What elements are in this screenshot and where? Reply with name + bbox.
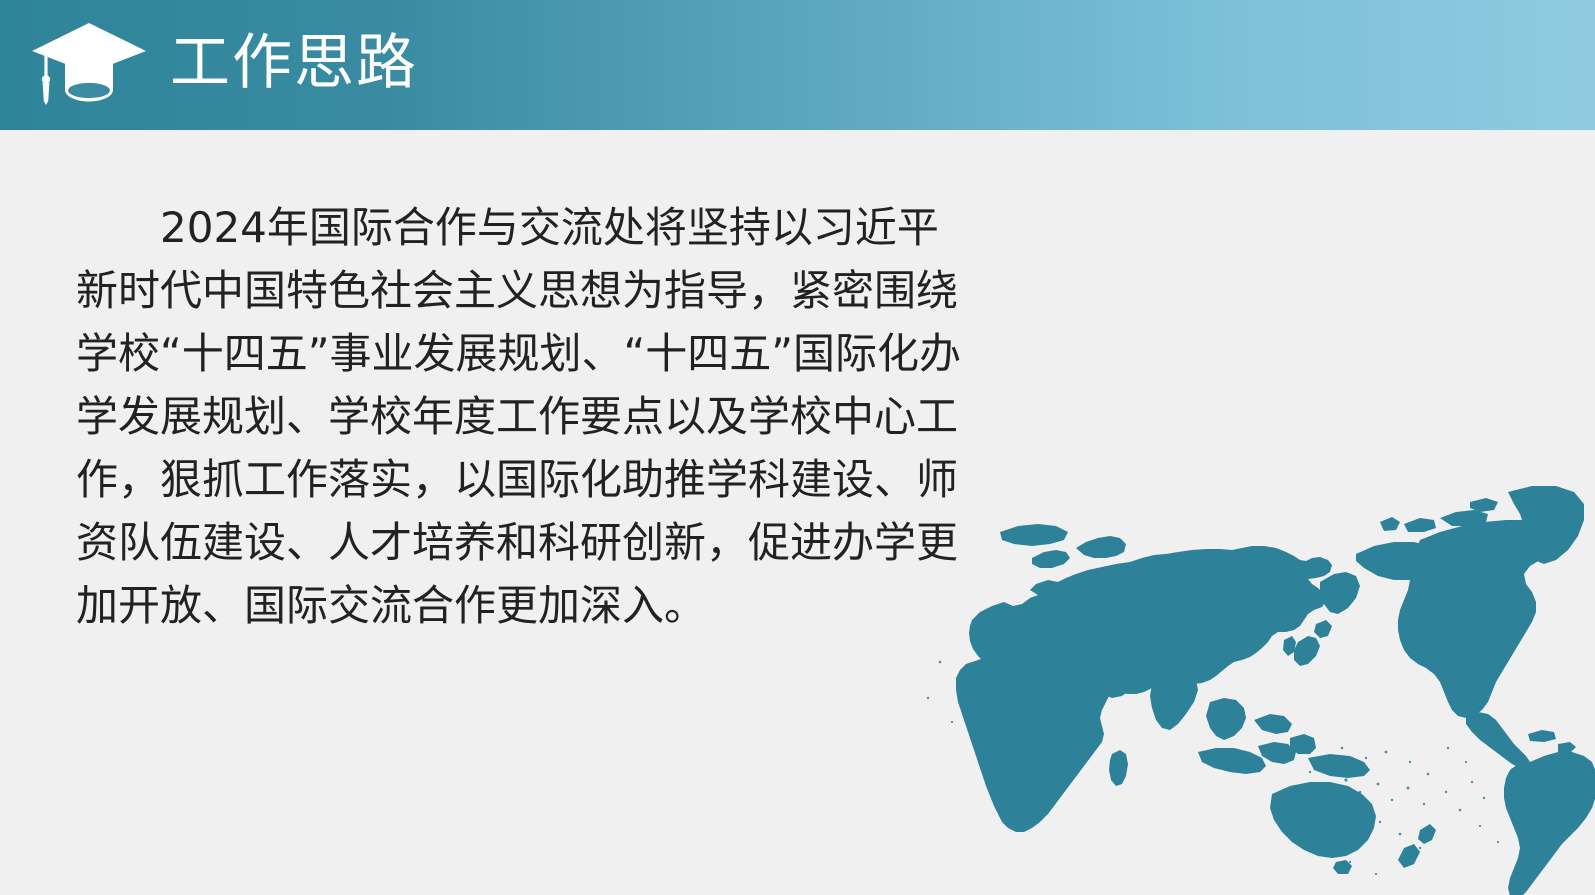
landmass-australia <box>1270 782 1376 858</box>
landmass-new-guinea <box>1308 754 1370 778</box>
landmass-arctic-islands-4 <box>1470 498 1498 512</box>
landmass-central-america <box>1466 712 1530 768</box>
landmass-new-zealand-south <box>1398 844 1420 868</box>
landmass-indochina <box>1206 698 1246 740</box>
landmass-madagascar <box>1109 750 1128 786</box>
page-title: 工作思路 <box>170 33 418 93</box>
landmass-philippines <box>1254 714 1292 734</box>
landmass-svalbard <box>1000 524 1068 546</box>
landmass-cuba <box>1528 730 1556 742</box>
landmass-japan <box>1294 636 1320 666</box>
header-bar: 工作思路 <box>0 0 1595 130</box>
landmass-hispaniola <box>1558 742 1576 753</box>
landmass-south-america <box>1504 752 1595 895</box>
world-map-graphic <box>880 462 1595 895</box>
landmass-indonesia-sumatra-java <box>1198 748 1266 774</box>
landmass-new-zealand-north <box>1418 824 1436 844</box>
landmass-hokkaido <box>1314 620 1332 638</box>
landmass-kamchatka <box>1320 572 1360 614</box>
graduation-cap-icon <box>30 19 170 111</box>
landmass-iceland-region <box>1032 550 1070 568</box>
landmass-india <box>1150 672 1198 730</box>
landmass-arctic-islands-3 <box>1380 517 1400 531</box>
slide-canvas: 工作思路 2024年国际合作与交流处将坚持以习近平新时代中国特色社会主义思想为指… <box>0 0 1595 895</box>
landmass-scandinavia <box>1076 536 1126 558</box>
body-paragraph: 2024年国际合作与交流处将坚持以习近平新时代中国特色社会主义思想为指导，紧密围… <box>76 196 976 637</box>
landmass-arctic-islands-2 <box>1404 518 1436 532</box>
